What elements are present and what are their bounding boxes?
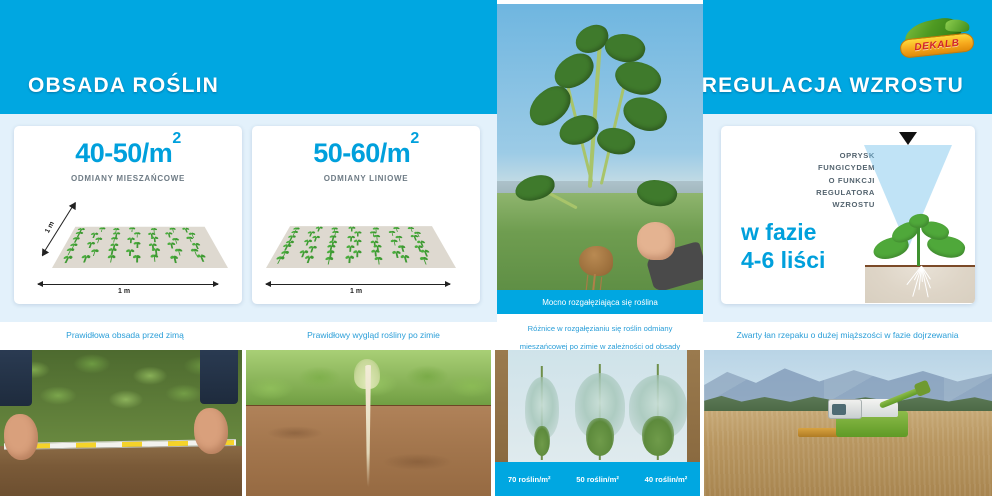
center-column: Mocno rozgałęziająca się roślina Różnice…: [497, 0, 703, 350]
growth-stage-line-1: w fazie: [741, 218, 871, 246]
photo-taproot-profile: [246, 350, 491, 496]
plant-root: [579, 246, 613, 276]
sprout-icon: [64, 248, 75, 254]
plant-base-leaves: [642, 416, 674, 456]
soil-edge-left: [495, 350, 508, 462]
sprout-icon: [373, 235, 381, 240]
sprout-icon: [324, 257, 334, 264]
sprout-icon: [110, 237, 118, 242]
spray-line-1: OPRYSK: [783, 150, 875, 162]
density-cards: 40-50/m2 ODMIANY MIESZAŃCOWE 1 m 1 m 50-…: [14, 126, 480, 304]
hand: [623, 218, 685, 282]
sprout-icon: [419, 257, 430, 264]
sprout-icon: [107, 248, 116, 254]
photo-harvester: [704, 350, 992, 496]
plant-40: [633, 364, 683, 460]
plant-base-leaves: [586, 418, 614, 456]
sprout-leaf: [284, 250, 290, 253]
root-system: [907, 266, 937, 300]
sprout-leaf: [316, 235, 321, 238]
hand-left: [4, 414, 38, 460]
harvester-cab: [828, 399, 862, 419]
sprout-icon: [128, 228, 135, 233]
density-label-bar: 70 roślin/m² 50 roślin/m² 40 roślin/m²: [495, 462, 700, 496]
sprout-leaf: [67, 255, 73, 259]
left-section-body: 40-50/m2 ODMIANY MIESZAŃCOWE 1 m 1 m 50-…: [0, 114, 497, 346]
page-title-right: REGULACJA WZROSTU: [702, 74, 964, 98]
density-card-hybrid: 40-50/m2 ODMIANY MIESZAŃCOWE 1 m 1 m: [14, 126, 242, 304]
sprout-icon: [185, 237, 194, 242]
sprayer-nozzle-icon: [899, 132, 917, 145]
plant-grid: [52, 227, 228, 268]
sprout-icon: [303, 256, 314, 263]
soil: [0, 446, 242, 496]
logo-text: DEKALB: [914, 38, 960, 54]
spray-instruction-lines: OPRYSK FUNGICYDEM O FUNKCJI REGULATORA W…: [783, 150, 875, 211]
sprout-leaf: [130, 249, 136, 252]
sprout-icon: [61, 256, 73, 263]
field-plane: [266, 226, 456, 268]
sprout-icon: [345, 256, 354, 263]
photo-density-comparison: 70 roślin/m² 50 roślin/m² 40 roślin/m²: [495, 350, 700, 496]
center-caption-text: Różnice w rozgałęzianiu się roślin odmia…: [520, 324, 680, 351]
card-number-exponent: 2: [410, 130, 418, 147]
person-leg-right: [200, 350, 238, 404]
sprout-icon: [106, 255, 116, 262]
plant-leaf: [602, 29, 648, 67]
sprout-icon: [85, 242, 95, 248]
sprout-leaf: [329, 256, 335, 260]
sprout-leaf: [73, 243, 79, 246]
spray-line-3: O FUNKCJI: [783, 175, 875, 187]
density-card-line: 50-60/m2 ODMIANY LINIOWE 1 m: [252, 126, 480, 304]
sprout-icon: [315, 227, 323, 232]
growth-stage-line-2: 4-6 liści: [741, 246, 871, 274]
caption-wyglad-po-zimie: Prawidłowy wygląd rośliny po zimie: [250, 330, 497, 340]
caption-obsada-przed-zima: Prawidłowa obsada przed zimą: [0, 330, 250, 340]
card-subtitle: ODMIANY MIESZAŃCOWE: [14, 174, 242, 183]
plant-50: [575, 364, 625, 460]
photo-measuring-density: [0, 350, 242, 496]
infographic-page: OBSADA ROŚLIN REGULACJA WZROSTU DEKALB 4…: [0, 0, 992, 496]
sprout-leaf: [312, 245, 318, 248]
harvester-auger: [878, 386, 923, 409]
sprout-leaf: [70, 248, 76, 251]
card-number: 40-50/m2: [14, 138, 242, 169]
left-caption-strip: Prawidłowa obsada przed zimą Prawidłowy …: [0, 322, 497, 350]
sprout-icon: [150, 255, 159, 262]
sprout-icon: [196, 255, 207, 262]
center-photo-caption-bar: Mocno rozgałęziająca się roślina: [497, 290, 703, 314]
dimension-label-bottom: 1 m: [350, 288, 362, 295]
seedling-illustration: [869, 222, 969, 270]
sprout-icon: [182, 228, 191, 233]
sprout-icon: [167, 243, 176, 249]
sprout-icon: [400, 256, 411, 263]
sprout-icon: [70, 238, 80, 243]
spray-line-2: FUNGICYDEM: [783, 162, 875, 174]
sprout-icon: [133, 233, 140, 238]
dimension-label-bottom: 1 m: [118, 288, 130, 295]
field-diagram-hybrid: 1 m 1 m: [14, 186, 242, 304]
right-caption-strip: Zwarty łan rzepaku o dużej miąższości w …: [703, 322, 992, 350]
card-number-value: 50-60/m: [313, 138, 410, 168]
sprout-icon: [98, 228, 106, 232]
sprout-leaf: [401, 245, 406, 248]
dimension-arrow-bottom: [38, 284, 218, 285]
sprout-leaf: [331, 244, 337, 247]
field-diagram-line: 1 m: [252, 186, 480, 304]
sprout-icon: [273, 257, 285, 264]
sprout-icon: [151, 237, 159, 242]
right-section-body: OPRYSK FUNGICYDEM O FUNKCJI REGULATORA W…: [703, 114, 992, 346]
plant-leaf: [594, 123, 638, 159]
sprout-icon: [132, 256, 141, 263]
spray-line-5: WZROSTU: [783, 199, 875, 211]
card-subtitle: ODMIANY LINIOWE: [252, 174, 480, 183]
caption-zwarty-lan: Zwarty łan rzepaku o dużej miąższości w …: [703, 330, 992, 340]
plant-base-leaves: [534, 426, 550, 456]
photo-branched-plant: [497, 4, 703, 290]
sprout-leaf: [417, 231, 422, 234]
palm: [637, 222, 675, 260]
sprout-icon: [79, 255, 90, 262]
field-plane: [52, 227, 228, 268]
plant-grid: [266, 226, 456, 268]
sprout-icon: [374, 257, 383, 264]
density-label-40: 40 roślin/m²: [632, 475, 700, 484]
sprout-icon: [353, 240, 361, 246]
density-label-70: 70 roślin/m²: [495, 475, 563, 484]
person-leg-left: [0, 350, 32, 406]
dimension-arrow-bottom: [266, 284, 450, 285]
dekalb-logo: DEKALB: [900, 20, 974, 60]
sprout-leaf: [294, 231, 299, 234]
bottom-photo-row: 70 roślin/m² 50 roślin/m² 40 roślin/m²: [0, 350, 992, 496]
growth-regulation-card: OPRYSK FUNGICYDEM O FUNKCJI REGULATORA W…: [721, 126, 975, 304]
center-caption-block: Różnice w rozgałęzianiu się roślin odmia…: [497, 314, 703, 350]
sprout-leaf: [114, 237, 119, 240]
card-number: 50-60/m2: [252, 138, 480, 169]
growth-stage-highlight: w fazie 4-6 liści: [731, 218, 871, 274]
plant-70: [517, 366, 567, 460]
hand-right: [194, 408, 228, 454]
center-photo-caption: Mocno rozgałęziająca się roślina: [542, 298, 658, 307]
density-label-50: 50 roślin/m²: [563, 475, 631, 484]
plant-leaf: [611, 55, 666, 102]
sprout-icon: [133, 242, 141, 248]
sprout-icon: [165, 232, 173, 237]
page-title-left: OBSADA ROŚLIN: [28, 74, 219, 98]
soil-edge-right: [687, 350, 700, 462]
sprout-icon: [169, 256, 179, 263]
card-number-value: 40-50/m: [75, 138, 172, 168]
sprout-icon: [302, 240, 312, 246]
card-number-exponent: 2: [172, 130, 180, 147]
spray-line-4: REGULATORA: [783, 187, 875, 199]
combine-harvester: [814, 389, 932, 437]
sprout-icon: [174, 249, 184, 255]
